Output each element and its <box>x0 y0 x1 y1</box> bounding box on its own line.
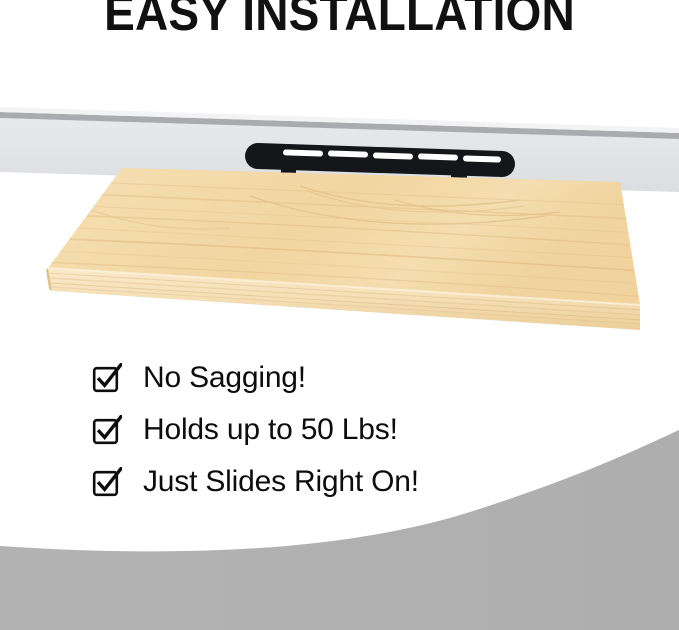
promo-graphic: EASY INSTALLATION No Sagging! Holds up t… <box>0 0 679 630</box>
list-item-label: No Sagging! <box>143 363 306 393</box>
list-item: Holds up to 50 Lbs! <box>92 404 612 456</box>
list-item-label: Holds up to 50 Lbs! <box>143 415 398 445</box>
list-item: No Sagging! <box>92 352 612 404</box>
wood-shelf <box>40 168 660 330</box>
list-item: Just Slides Right On! <box>92 456 612 508</box>
checkbox-checked-icon <box>92 467 122 497</box>
feature-list: No Sagging! Holds up to 50 Lbs! Just Sli… <box>92 352 612 508</box>
page-title: EASY INSTALLATION <box>27 0 652 38</box>
bracket-slot <box>463 155 501 162</box>
checkbox-checked-icon <box>92 415 122 445</box>
checkbox-checked-icon <box>92 363 122 393</box>
list-item-label: Just Slides Right On! <box>143 467 419 497</box>
shelf-illustration <box>0 0 679 630</box>
